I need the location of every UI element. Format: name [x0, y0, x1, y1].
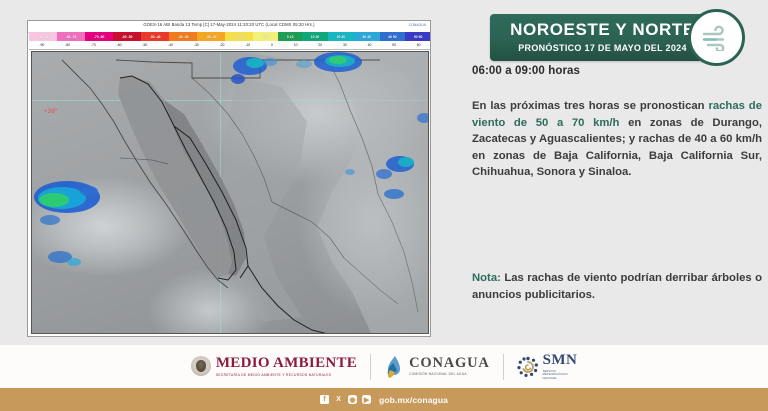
- scale-tick: -40: [158, 41, 184, 49]
- colorbar-segment-label: -60 -50: [122, 35, 133, 39]
- satellite-image-inner: +30°: [32, 52, 428, 333]
- colorbar-segment: 50 60: [405, 32, 431, 41]
- forecast-hours: 06:00 a 09:00 horas: [472, 65, 580, 77]
- colorbar-segment-label: 10 20: [311, 35, 320, 39]
- smn-text: SMN SERVICIO METEOROLÓGICO NACIONAL: [543, 353, 578, 380]
- scale-tick: -70: [80, 41, 106, 49]
- x-twitter-icon[interactable]: X: [334, 395, 343, 404]
- conagua-title: CONAGUA: [409, 356, 490, 371]
- footer-logo-bar: MEDIO AMBIENTE SECRETARÍA DE MEDIO AMBIE…: [0, 345, 768, 388]
- colorbar-segment-label: -50 -40: [150, 35, 161, 39]
- scale-tick: 30: [333, 41, 358, 49]
- footer-social-bar: f X ◉ ▶ gob.mx/conagua: [0, 388, 768, 411]
- smn-subtitle: SERVICIO METEOROLÓGICO NACIONAL: [543, 370, 577, 380]
- region-header-banner: NOROESTE Y NORTE PRONÓSTICO 17 DE MAYO D…: [490, 14, 715, 61]
- colorbar-segment-label: -20 -10: [234, 35, 245, 39]
- infographic-page: GOES-16 ABI Banda 13 Temp [C] 17-May-202…: [0, 0, 768, 411]
- forecast-note: Nota: Las rachas de viento podrían derri…: [472, 270, 762, 303]
- conagua-subtitle: COMISIÓN NACIONAL DEL AGUA: [409, 373, 490, 376]
- note-label: Nota:: [472, 272, 501, 284]
- colorbar-segment: -90 -80: [29, 32, 57, 41]
- colorbar-segment-label: -30 -20: [206, 35, 217, 39]
- logo-conagua: CONAGUA COMISIÓN NACIONAL DEL AGUA: [384, 355, 490, 379]
- conagua-water-icon: [384, 355, 404, 379]
- scale-tick: -20: [209, 41, 235, 49]
- forecast-paragraph: En las próximas tres horas se pronostica…: [472, 98, 762, 181]
- colorbar-segment: 0 10: [278, 32, 302, 41]
- scale-tick: 20: [308, 41, 333, 49]
- colorbar-segment: 40 50: [380, 32, 406, 41]
- colorbar-segment-label: 50 60: [414, 35, 423, 39]
- paragraph-part-1: En las próximas tres horas se pronostica…: [472, 100, 708, 112]
- temperature-scale-ticks: -90 -80 -70 -60 -50 -40 -30 -20 -10 0 10…: [29, 41, 431, 50]
- colorbar-segment-label: 30 40: [362, 35, 371, 39]
- instagram-icon[interactable]: ◉: [348, 395, 357, 404]
- conagua-url[interactable]: gob.mx/conagua: [379, 395, 448, 405]
- colorbar-segment-label: -10 0: [262, 35, 270, 39]
- scale-tick: 0: [261, 41, 284, 49]
- coastline-overlay: [32, 52, 429, 334]
- colorbar-segment: 20 30: [328, 32, 354, 41]
- medio-ambiente-text: MEDIO AMBIENTE SECRETARÍA DE MEDIO AMBIE…: [216, 356, 357, 377]
- colorbar-segment: -30 -20: [197, 32, 225, 41]
- banner-subtitle: PRONÓSTICO 17 DE MAYO DEL 2024: [490, 43, 715, 53]
- conagua-glyph: [384, 355, 404, 379]
- mexican-eagle-icon: [191, 356, 211, 376]
- medio-ambiente-title: MEDIO AMBIENTE: [216, 356, 357, 371]
- colorbar-segment-label: -80 -70: [66, 35, 77, 39]
- colorbar-segment-label: -40 -30: [178, 35, 189, 39]
- colorbar-segment-label: 40 50: [388, 35, 397, 39]
- colorbar-segment: 10 20: [302, 32, 328, 41]
- colorbar-segment-label: -90 -80: [38, 35, 49, 39]
- logo-group: MEDIO AMBIENTE SECRETARÍA DE MEDIO AMBIE…: [191, 353, 577, 380]
- scale-tick: 50: [382, 41, 407, 49]
- colorbar-segment: 30 40: [354, 32, 380, 41]
- scale-tick: -90: [29, 41, 55, 49]
- smn-spiral-icon: [517, 356, 539, 378]
- cloud-cluster-pacific: [34, 181, 100, 266]
- scale-tick: 10: [283, 41, 308, 49]
- sonora-landmass: [222, 77, 307, 322]
- temperature-colorbar: -90 -80 -80 -70 -70 -60 -60 -50 -50 -40 …: [29, 32, 431, 41]
- satellite-watermark: CONAGUA: [409, 23, 426, 27]
- colorbar-segment-label: 0 10: [287, 35, 294, 39]
- banner-title: NOROESTE Y NORTE: [490, 20, 715, 40]
- wind-icon: [700, 25, 734, 51]
- note-body: Las rachas de viento podrían derribar ár…: [472, 272, 762, 301]
- colorbar-segment: -50 -40: [141, 32, 169, 41]
- colorbar-segment: -40 -30: [169, 32, 197, 41]
- facebook-icon[interactable]: f: [320, 395, 329, 404]
- colorbar-segment: -10 0: [253, 32, 278, 41]
- scale-tick: -60: [106, 41, 132, 49]
- conagua-text: CONAGUA COMISIÓN NACIONAL DEL AGUA: [409, 356, 490, 376]
- colorbar-segment: -70 -60: [85, 32, 113, 41]
- smn-title: SMN: [543, 353, 578, 368]
- logo-divider: [370, 354, 371, 380]
- satellite-infrared-image: +30°: [31, 51, 429, 334]
- scale-tick: -30: [183, 41, 209, 49]
- latitude-label: +30°: [44, 109, 58, 115]
- youtube-icon[interactable]: ▶: [362, 395, 371, 404]
- colorbar-segment: -60 -50: [113, 32, 141, 41]
- scale-tick: -50: [132, 41, 158, 49]
- colorbar-segment-label: -70 -60: [94, 35, 105, 39]
- cloud-cluster-north: [231, 57, 277, 84]
- scale-tick: 40: [357, 41, 382, 49]
- scale-tick: -80: [55, 41, 81, 49]
- logo-divider: [503, 354, 504, 380]
- satellite-image-panel: GOES-16 ABI Banda 13 Temp [C] 17-May-202…: [27, 20, 431, 337]
- smn-glyph: [517, 356, 539, 378]
- scale-tick: 60: [406, 41, 431, 49]
- satellite-title: GOES-16 ABI Banda 13 Temp [C] 17-May-202…: [143, 22, 314, 27]
- wind-icon-badge: [688, 9, 745, 66]
- medio-ambiente-subtitle: SECRETARÍA DE MEDIO AMBIENTE Y RECURSOS …: [216, 374, 357, 377]
- scale-tick: -10: [235, 41, 261, 49]
- colorbar-segment: -80 -70: [57, 32, 85, 41]
- colorbar-segment: -20 -10: [225, 32, 253, 41]
- forecast-content-column: NOROESTE Y NORTE PRONÓSTICO 17 DE MAYO D…: [460, 0, 768, 340]
- logo-medio-ambiente: MEDIO AMBIENTE SECRETARÍA DE MEDIO AMBIE…: [191, 356, 357, 377]
- colorbar-segment-label: 20 30: [337, 35, 346, 39]
- logo-smn: SMN SERVICIO METEOROLÓGICO NACIONAL: [517, 353, 578, 380]
